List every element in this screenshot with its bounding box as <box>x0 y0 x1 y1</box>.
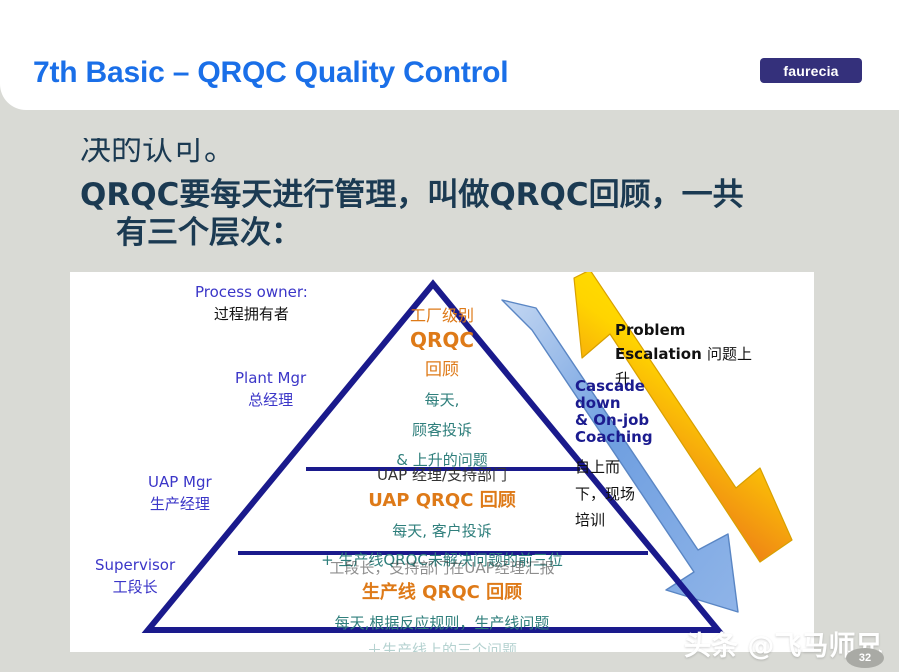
annotation-escalation-en: Escalation <box>615 345 702 363</box>
header-shadow-band <box>0 110 899 138</box>
annotation-cascade-line-3: & On-job <box>575 412 653 429</box>
page-number-badge: 32 <box>846 648 884 668</box>
role-en-plant-mgr: Plant Mgr <box>235 369 306 387</box>
body-line-3: 有三个层次： <box>116 215 880 253</box>
tier-bottom-title: 生产线 QRQC 回顾 <box>252 578 632 604</box>
tier-top-frequency: 每天, <box>362 389 522 410</box>
annotation-cascade-cn-3: 培训 <box>575 507 635 534</box>
annotation-cascade-cn-1: 自上而 <box>575 454 635 481</box>
tier-middle-owner: UAP 经理/支持部门 <box>292 464 592 485</box>
annotation-escalation-cn: 问题上 <box>707 345 752 363</box>
qrqc-pyramid-diagram: Process owner: 过程拥有者 Plant Mgr 总经理 UAP M… <box>70 272 814 652</box>
annotation-cascade-line-1: Cascade <box>575 378 653 395</box>
header-band: 7th Basic – QRQC Quality Control faureci… <box>0 0 899 110</box>
tier-top-level: 工厂级别 <box>362 302 522 326</box>
tier-middle-title: UAP QRQC 回顾 <box>292 486 592 512</box>
role-en-supervisor: Supervisor <box>95 556 175 574</box>
role-label-process-owner: Process owner: 过程拥有者 <box>195 282 308 326</box>
role-en-uap-mgr: UAP Mgr <box>148 473 212 491</box>
annotation-cascade-line-4: Coaching <box>575 429 653 446</box>
tier-top-item-1: 顾客投诉 <box>362 419 522 440</box>
pyramid-tier-top: 工厂级别 QRQC 回顾 每天, 顾客投诉 & 上升的问题 <box>362 302 522 470</box>
tier-top-name: QRQC <box>362 328 522 352</box>
tier-bottom-owner: 工段长，支持部门在UAP经理汇报 <box>252 557 632 578</box>
annotation-cascade-line-2: down <box>575 395 653 412</box>
slide-body-text: 决的认可。 QRQC要每天进行管理，叫做QRQC回顾，一共 有三个层次： <box>80 132 880 252</box>
annotation-cascade-cn-2: 下，现场 <box>575 481 635 508</box>
pyramid-tier-middle: UAP 经理/支持部门 UAP QRQC 回顾 每天, 客户投诉 + 生产线QR… <box>292 464 592 570</box>
annotation-escalation-line-2: Escalation 问题上 <box>615 342 752 366</box>
page-title: 7th Basic – QRQC Quality Control <box>33 56 508 90</box>
role-cn-process-owner: 过程拥有者 <box>195 304 308 326</box>
role-cn-supervisor: 工段长 <box>95 577 175 599</box>
page-number-value: 32 <box>859 652 871 664</box>
faurecia-logo-text: faurecia <box>783 63 838 79</box>
pyramid-tier-bottom: 工段长，支持部门在UAP经理汇报 生产线 QRQC 回顾 每天,根据反应规则，生… <box>252 557 632 652</box>
role-label-plant-mgr: Plant Mgr 总经理 <box>235 368 306 412</box>
faurecia-logo: faurecia <box>760 58 862 83</box>
body-line-2: QRQC要每天进行管理，叫做QRQC回顾，一共 <box>80 177 880 215</box>
tier-middle-frequency: 每天, 客户投诉 <box>292 520 592 541</box>
annotation-cascade-down: Cascade down & On-job Coaching <box>575 378 653 446</box>
role-en-process-owner: Process owner: <box>195 283 308 301</box>
role-cn-uap-mgr: 生产经理 <box>148 494 212 516</box>
tier-bottom-frequency: 每天,根据反应规则，生产线问题 <box>252 612 632 633</box>
role-label-supervisor: Supervisor 工段长 <box>95 555 175 599</box>
role-cn-plant-mgr: 总经理 <box>235 390 306 412</box>
annotation-cascade-down-chinese: 自上而 下，现场 培训 <box>575 454 635 534</box>
tier-bottom-item-1: ＋生产线上的三个问题 <box>252 639 632 652</box>
role-label-uap-mgr: UAP Mgr 生产经理 <box>148 472 212 516</box>
annotation-escalation-line-1: Problem <box>615 318 752 342</box>
tier-top-review: 回顾 <box>362 355 522 380</box>
